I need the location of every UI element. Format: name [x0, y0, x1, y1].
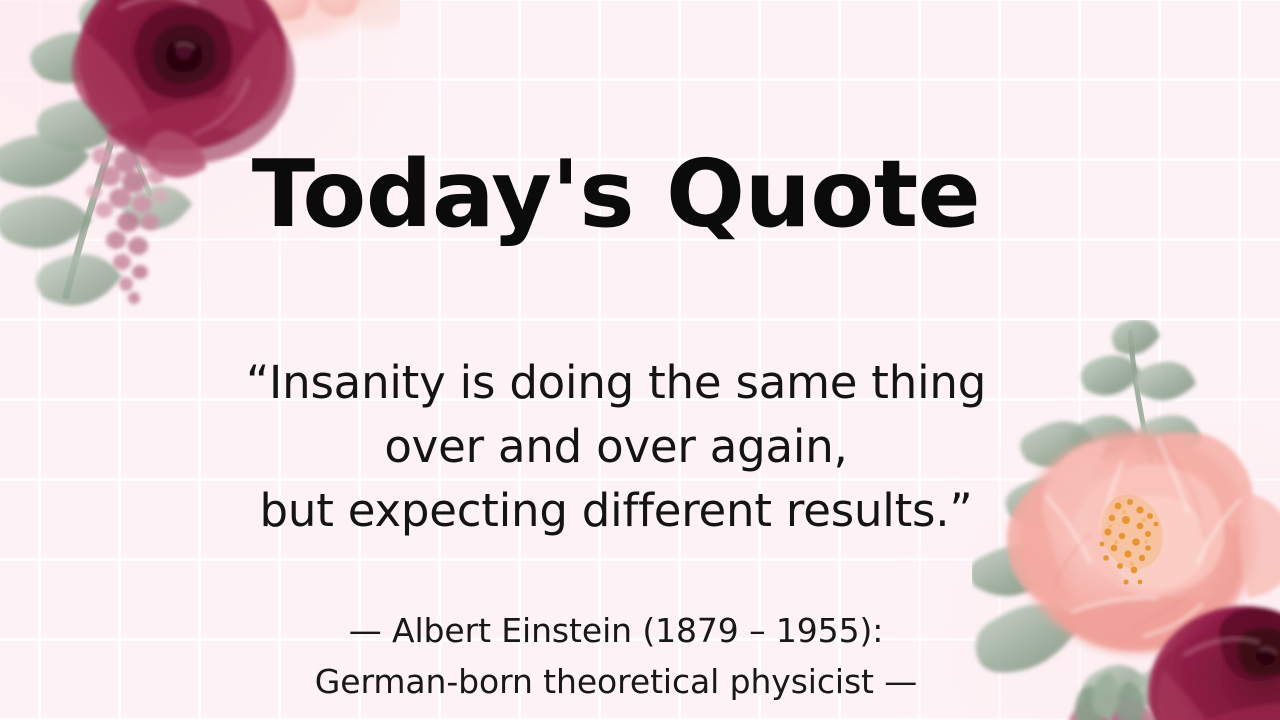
background-color-wash — [0, 0, 1280, 720]
dusty-rose-bud — [1068, 672, 1156, 720]
accent-petal — [146, 130, 206, 178]
berry-cluster — [86, 129, 168, 304]
background-grid — [0, 0, 1280, 720]
pale-petal-detail — [198, 0, 360, 21]
quote-line-3: but expecting different results.” — [246, 479, 986, 543]
blush-peony — [1007, 432, 1280, 652]
attribution-line-2: German-born theoretical physicist — — [315, 656, 917, 707]
stem-branch — [120, 110, 150, 194]
eucalyptus-stem — [1130, 332, 1162, 502]
slide-content: Today's Quote “Insanity is doing the sam… — [0, 0, 1232, 720]
quote-line-1: “Insanity is doing the same thing — [246, 351, 986, 415]
quote-line-2: over and over again, — [246, 415, 986, 479]
floral-decoration-top-left — [0, 0, 400, 360]
peony-stamens — [1092, 487, 1173, 585]
attribution-line-1: — Albert Einstein (1879 – 1955): — [315, 605, 917, 656]
quote-text: “Insanity is doing the same thing over a… — [246, 351, 986, 543]
page-title: Today's Quote — [252, 148, 980, 241]
stem — [66, 100, 122, 296]
pale-petal-cluster — [154, 0, 400, 54]
quote-attribution: — Albert Einstein (1879 – 1955): German-… — [315, 605, 917, 707]
floral-decoration-bottom-right — [972, 320, 1280, 720]
burgundy-rose — [72, 0, 295, 164]
quote-slide: Today's Quote “Insanity is doing the sam… — [0, 0, 1280, 720]
eucalyptus-leaves — [972, 320, 1202, 709]
sage-leaves — [0, 0, 192, 305]
burgundy-rose-corner — [1148, 606, 1280, 720]
